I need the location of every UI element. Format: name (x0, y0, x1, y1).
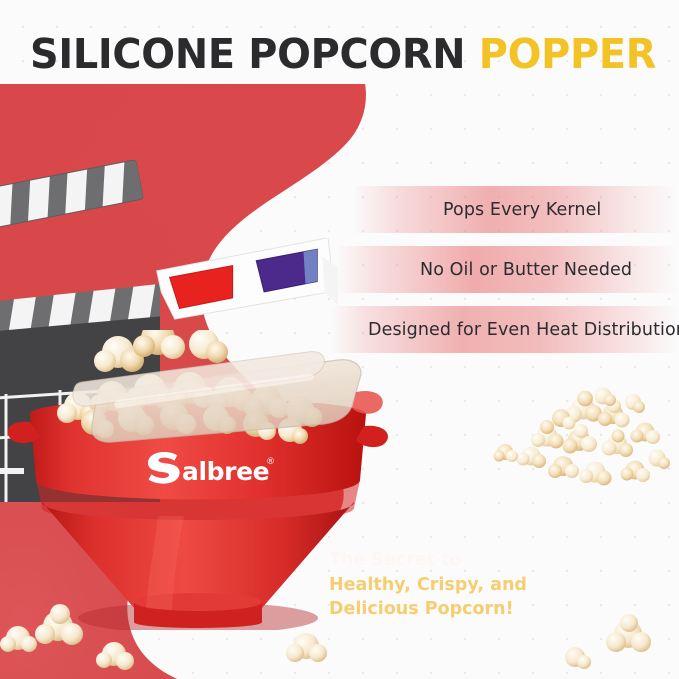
feature-band-2: No Oil or Butter Needed (336, 246, 679, 293)
tagline-line-1: The Secret to (329, 548, 527, 573)
page-title: SILICONE POPCORN POPPER (30, 28, 636, 80)
tagline-line-3: Delicious Popcorn! (329, 597, 527, 622)
popcorn-scatter-bottom-right-small (556, 640, 596, 674)
feature-label-2: No Oil or Butter Needed (420, 260, 632, 280)
title-part-accent: POPPER (479, 30, 656, 78)
tagline-block: The Secret to Healthy, Crispy, and Delic… (329, 548, 527, 622)
popcorn-scatter-bottom-right (598, 608, 664, 664)
svg-text:®: ® (266, 457, 275, 467)
feature-label-1: Pops Every Kernel (443, 200, 601, 220)
popcorn-scatter-bottom-small (88, 632, 144, 678)
3d-glasses (155, 238, 340, 330)
svg-text:albree: albree (182, 457, 269, 486)
popcorn-cluster-right (487, 378, 677, 510)
tagline-line-2: Healthy, Crispy, and (329, 573, 527, 598)
feature-band-1: Pops Every Kernel (352, 186, 679, 233)
title-part-primary: SILICONE POPCORN (30, 30, 465, 78)
feature-label-3: Designed for Even Heat Distribution (368, 320, 679, 340)
product-marketing-image: SILICONE POPCORN POPPER Pops Every Kerne… (0, 0, 679, 679)
